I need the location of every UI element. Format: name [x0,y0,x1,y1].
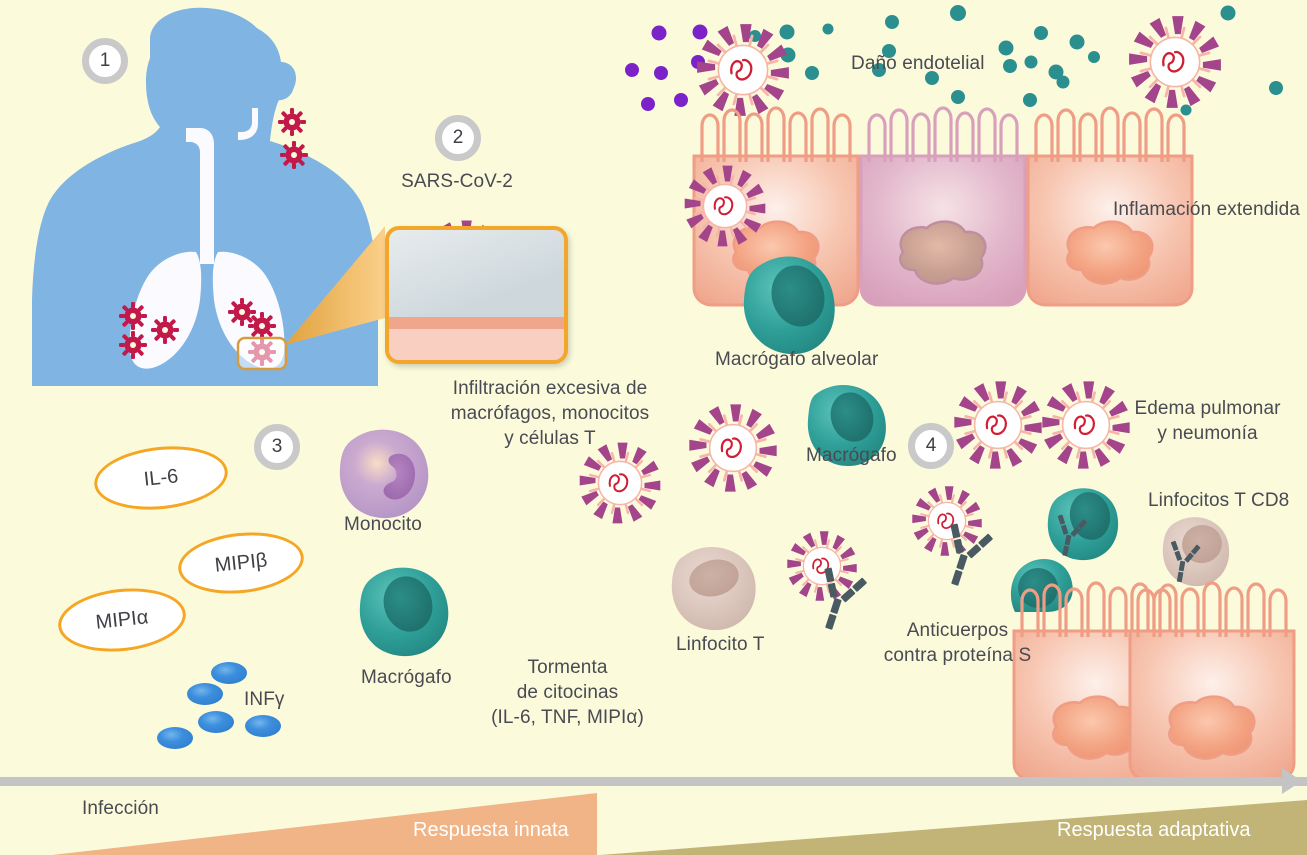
cytokine-oval-il6[interactable]: IL-6 [91,440,231,516]
label-edema-pulmonar: Edema pulmonar y neumonía [1125,396,1290,446]
timeline-rule [0,777,1307,786]
label-dano-endotelial: Daño endotelial [851,51,985,76]
antibody-virus-complex-1 [787,531,868,635]
coronavirus-icon [685,166,766,247]
label-linfocito-t: Linfocito T [676,632,764,657]
cytokine-label: MIPIβ [214,549,269,577]
label-anticuerpos: Anticuerpos contra proteína S [860,618,1055,668]
coronavirus-icon [689,404,776,491]
label-sars-cov-2: SARS-CoV-2 [401,169,513,194]
membrane-inner [389,329,564,360]
zoom-highlight-box [238,338,286,369]
monocyte-cell [340,430,428,519]
coronavirus-icon [954,381,1041,468]
label-macrofago-alveolar: Macrógafo alveolar [715,347,878,372]
cytokine-oval-mipi-beta[interactable]: MIPIβ [175,527,307,600]
step-badge-1[interactable]: 1 [82,38,128,84]
coronavirus-icon [1129,16,1221,108]
diagram-canvas: 1 2 3 4 IL-6 MIPIβ MIPIα SARS-CoV-2 Infi… [0,0,1307,855]
coronavirus-icon [119,108,308,366]
label-monocito: Monocito [344,512,422,537]
label-linfocitos-t-cd8: Linfocitos T CD8 [1148,488,1289,513]
cd8-t-cell-lower [1011,559,1073,612]
epithelium-row-bottom [1014,583,1294,780]
antibody-virus-complex-2 [912,486,994,591]
alveolar-macrophage-cell [744,257,835,355]
coronavirus-icon [697,24,789,116]
step-badge-2[interactable]: 2 [435,115,481,161]
timeline-label-respuesta-adaptativa: Respuesta adaptativa [1057,819,1250,842]
cytokine-label: MIPIα [95,606,150,634]
cd8-t-cell-upper [1048,488,1118,560]
magnifier-funnel [285,226,385,345]
sars-cov-2-inset-panel [385,226,568,364]
step-badge-3[interactable]: 3 [254,424,300,470]
label-inf-gamma: INFγ [244,687,285,712]
timeline-label-infeccion: Infección [82,796,159,821]
label-inflamacion-extendida: Inflamación extendida [1113,197,1300,222]
lymphocyte-t-cd8-right [1163,517,1229,586]
coronavirus-icon [1042,381,1129,468]
label-macrofago-step4: Macrógafo [806,443,897,468]
coronavirus-icon [580,443,661,524]
macrophage-cell-step3 [360,568,448,657]
cytokine-label: IL-6 [143,465,180,491]
timeline-label-respuesta-innata: Respuesta innata [413,819,569,842]
label-macrofago-step3: Macrógafo [361,665,452,690]
cytokine-oval-mipi-alpha[interactable]: MIPIα [55,582,189,657]
timeline-arrow-icon [1282,768,1302,794]
label-tormenta-citocinas: Tormenta de citocinas (IL-6, TNF, MIPIα) [465,655,670,730]
membrane-outer [389,317,564,329]
label-infiltracion: Infiltración excesiva de macrófagos, mon… [425,376,675,451]
lymphocyte-t-cell [672,547,756,630]
step-badge-4[interactable]: 4 [908,423,954,469]
